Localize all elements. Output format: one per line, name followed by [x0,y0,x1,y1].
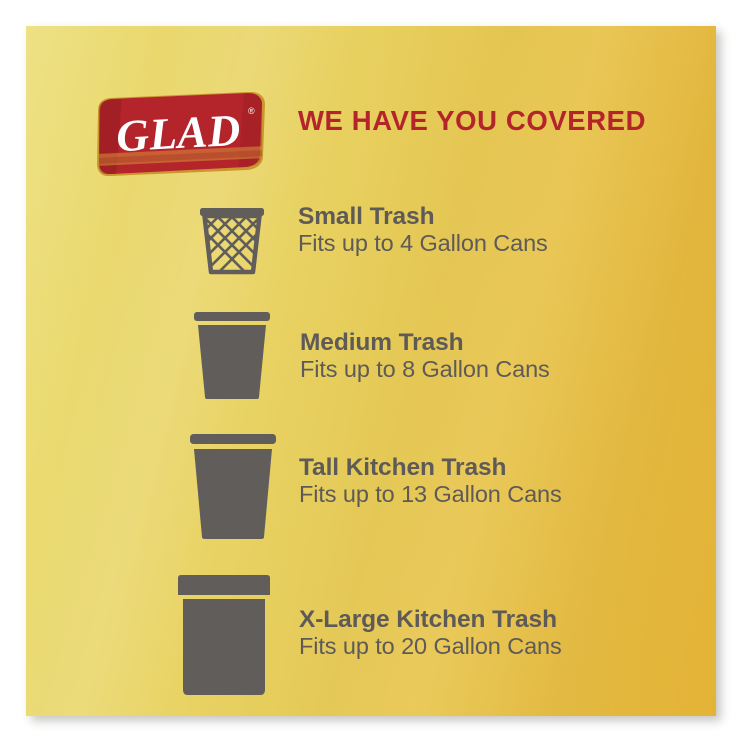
list-item-title: X-Large Kitchen Trash [299,607,562,633]
list-item-title: Small Trash [298,204,548,230]
glad-logo: GLAD ® [96,92,266,176]
list-item-title: Medium Trash [300,330,550,356]
list-item-subtitle: Fits up to 20 Gallon Cans [299,633,562,661]
product-size-guide-card: GLAD ® WE HAVE YOU COVERED [26,26,716,716]
small-trash-can-icon [192,309,276,401]
mesh-wastebasket-icon [193,202,271,280]
tall-trash-can-icon [187,431,283,541]
list-item-text: X-Large Kitchen Trash Fits up to 20 Gall… [299,607,562,660]
list-item-text: Tall Kitchen Trash Fits up to 13 Gallon … [299,455,562,508]
list-item-title: Tall Kitchen Trash [299,455,562,481]
lidded-trash-can-icon [174,571,282,699]
list-item: Small Trash Fits up to 4 Gallon Cans [193,202,271,280]
list-item: Tall Kitchen Trash Fits up to 13 Gallon … [187,431,283,541]
list-item-text: Small Trash Fits up to 4 Gallon Cans [298,204,548,257]
logo-wordmark: GLAD [115,105,242,161]
list-item: Medium Trash Fits up to 8 Gallon Cans [192,309,276,401]
registered-trademark-icon: ® [248,106,255,116]
list-item-subtitle: Fits up to 13 Gallon Cans [299,481,562,509]
page-title: WE HAVE YOU COVERED [298,105,646,137]
list-item: X-Large Kitchen Trash Fits up to 20 Gall… [174,571,282,699]
list-item-subtitle: Fits up to 8 Gallon Cans [300,356,550,384]
infographic-stage: GLAD ® WE HAVE YOU COVERED [0,0,750,750]
list-item-text: Medium Trash Fits up to 8 Gallon Cans [300,330,550,383]
list-item-subtitle: Fits up to 4 Gallon Cans [298,230,548,258]
